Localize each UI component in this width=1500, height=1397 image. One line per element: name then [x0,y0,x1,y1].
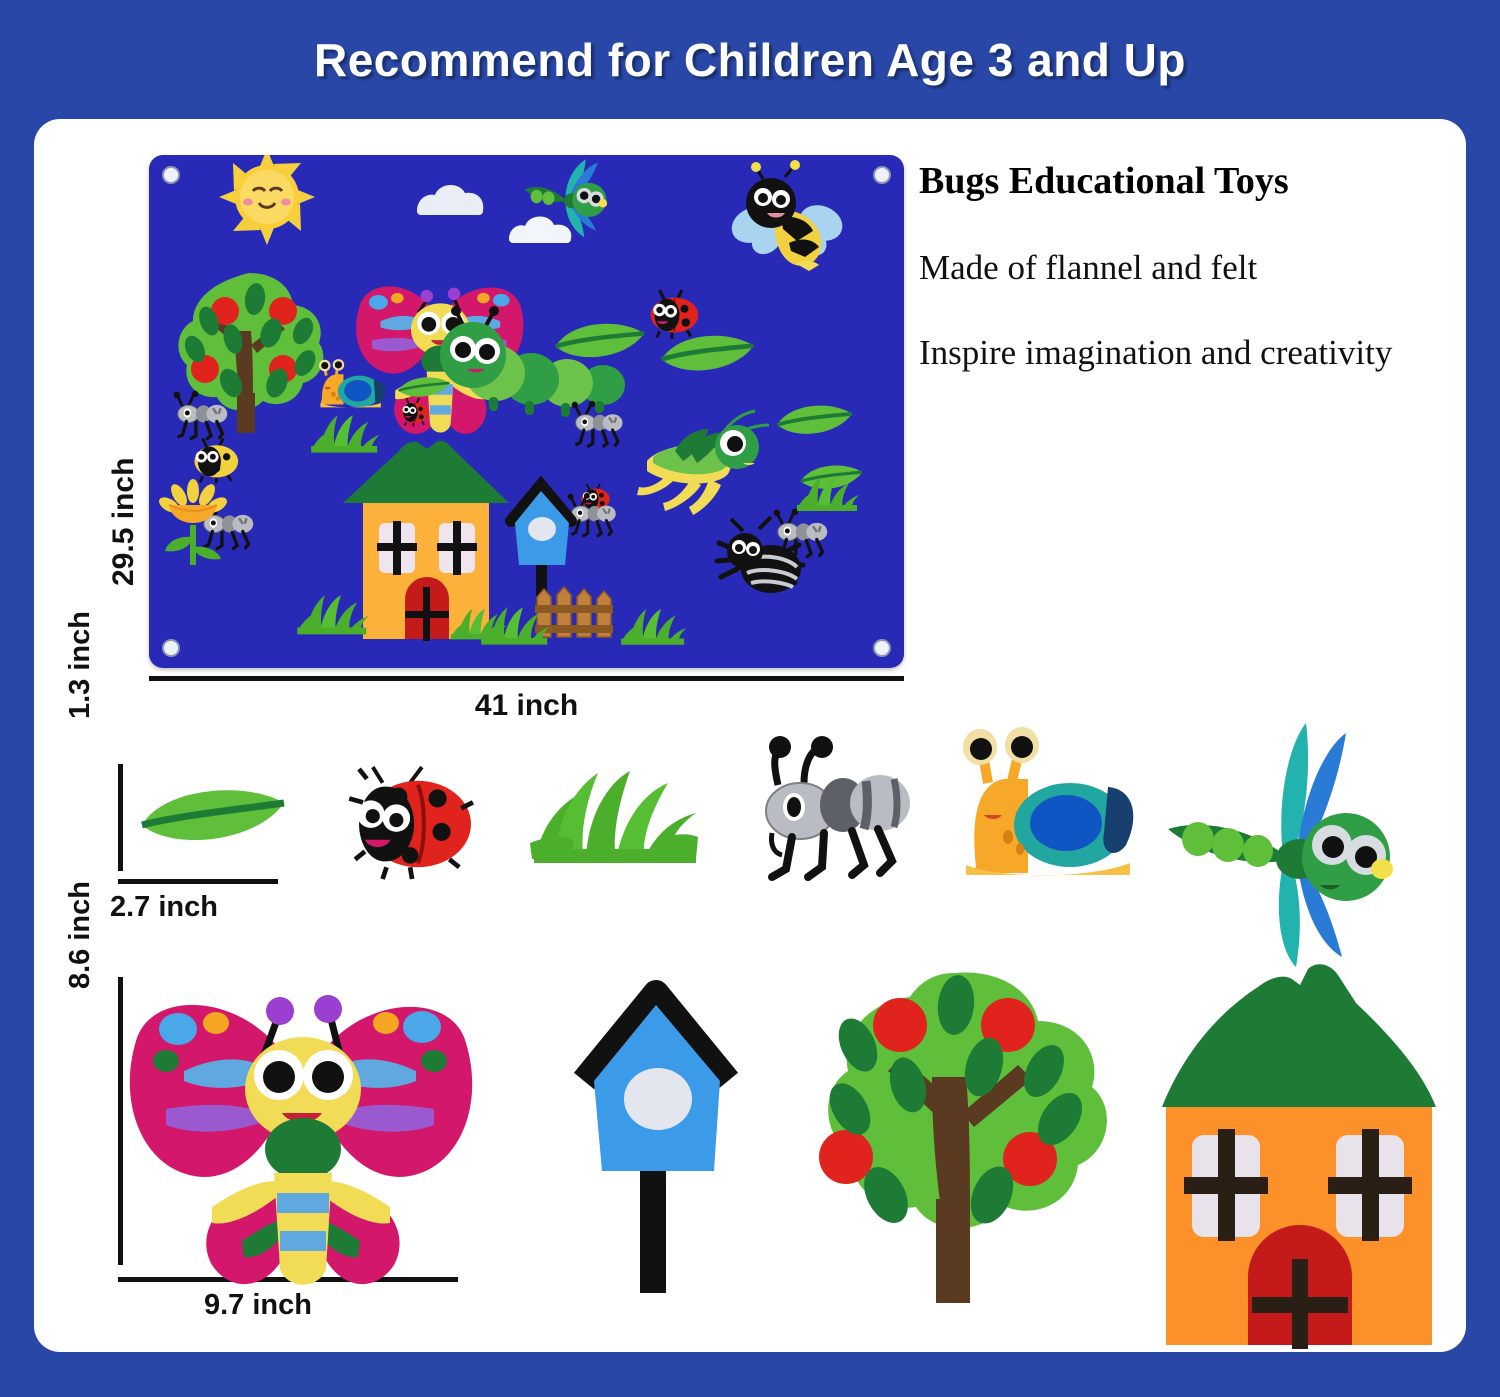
felt-board [149,155,904,668]
felt-board-photo [149,155,924,675]
product-bullet-2: Inspire imagination and creativity [919,332,1439,375]
large-width-label: 9.7 inch [204,1289,312,1322]
header-banner: Recommend for Children Age 3 and Up [0,0,1500,120]
measure-line-board-width [149,676,904,681]
page-title: Recommend for Children Age 3 and Up [314,33,1186,87]
small-width-label: 2.7 inch [110,891,218,924]
felt-board-scene [149,155,904,668]
measure-line-small-width [118,879,278,884]
board-width-label: 41 inch [149,689,904,723]
infographic-root: Recommend for Children Age 3 and Up 29.5… [0,0,1500,1397]
piece-dragonfly [1154,719,1434,969]
board-height-label: 29.5 inch [107,458,141,586]
product-heading: Bugs Educational Toys [919,159,1439,203]
piece-snail [950,733,1140,883]
piece-ant [748,741,918,881]
piece-birdhouse [564,981,764,1301]
piece-butterfly [122,979,482,1279]
piece-apple-tree [792,967,1132,1307]
product-bullet-1: Made of flannel and felt [919,247,1439,290]
small-pieces-row: 1.3 inch 2.7 inch [34,719,1466,969]
large-pieces-row: 8.6 inch 9.7 inch [34,959,1466,1359]
measure-line-small-height [118,764,123,871]
piece-ladybug [346,769,486,879]
piece-house [1140,959,1470,1349]
content-card: 29.5 inch [34,119,1466,1352]
product-copy: Bugs Educational Toys Made of flannel an… [919,159,1439,416]
piece-leaf [138,781,288,861]
small-height-label: 1.3 inch [64,611,97,719]
large-height-label: 8.6 inch [64,881,97,989]
piece-grass [530,767,700,867]
